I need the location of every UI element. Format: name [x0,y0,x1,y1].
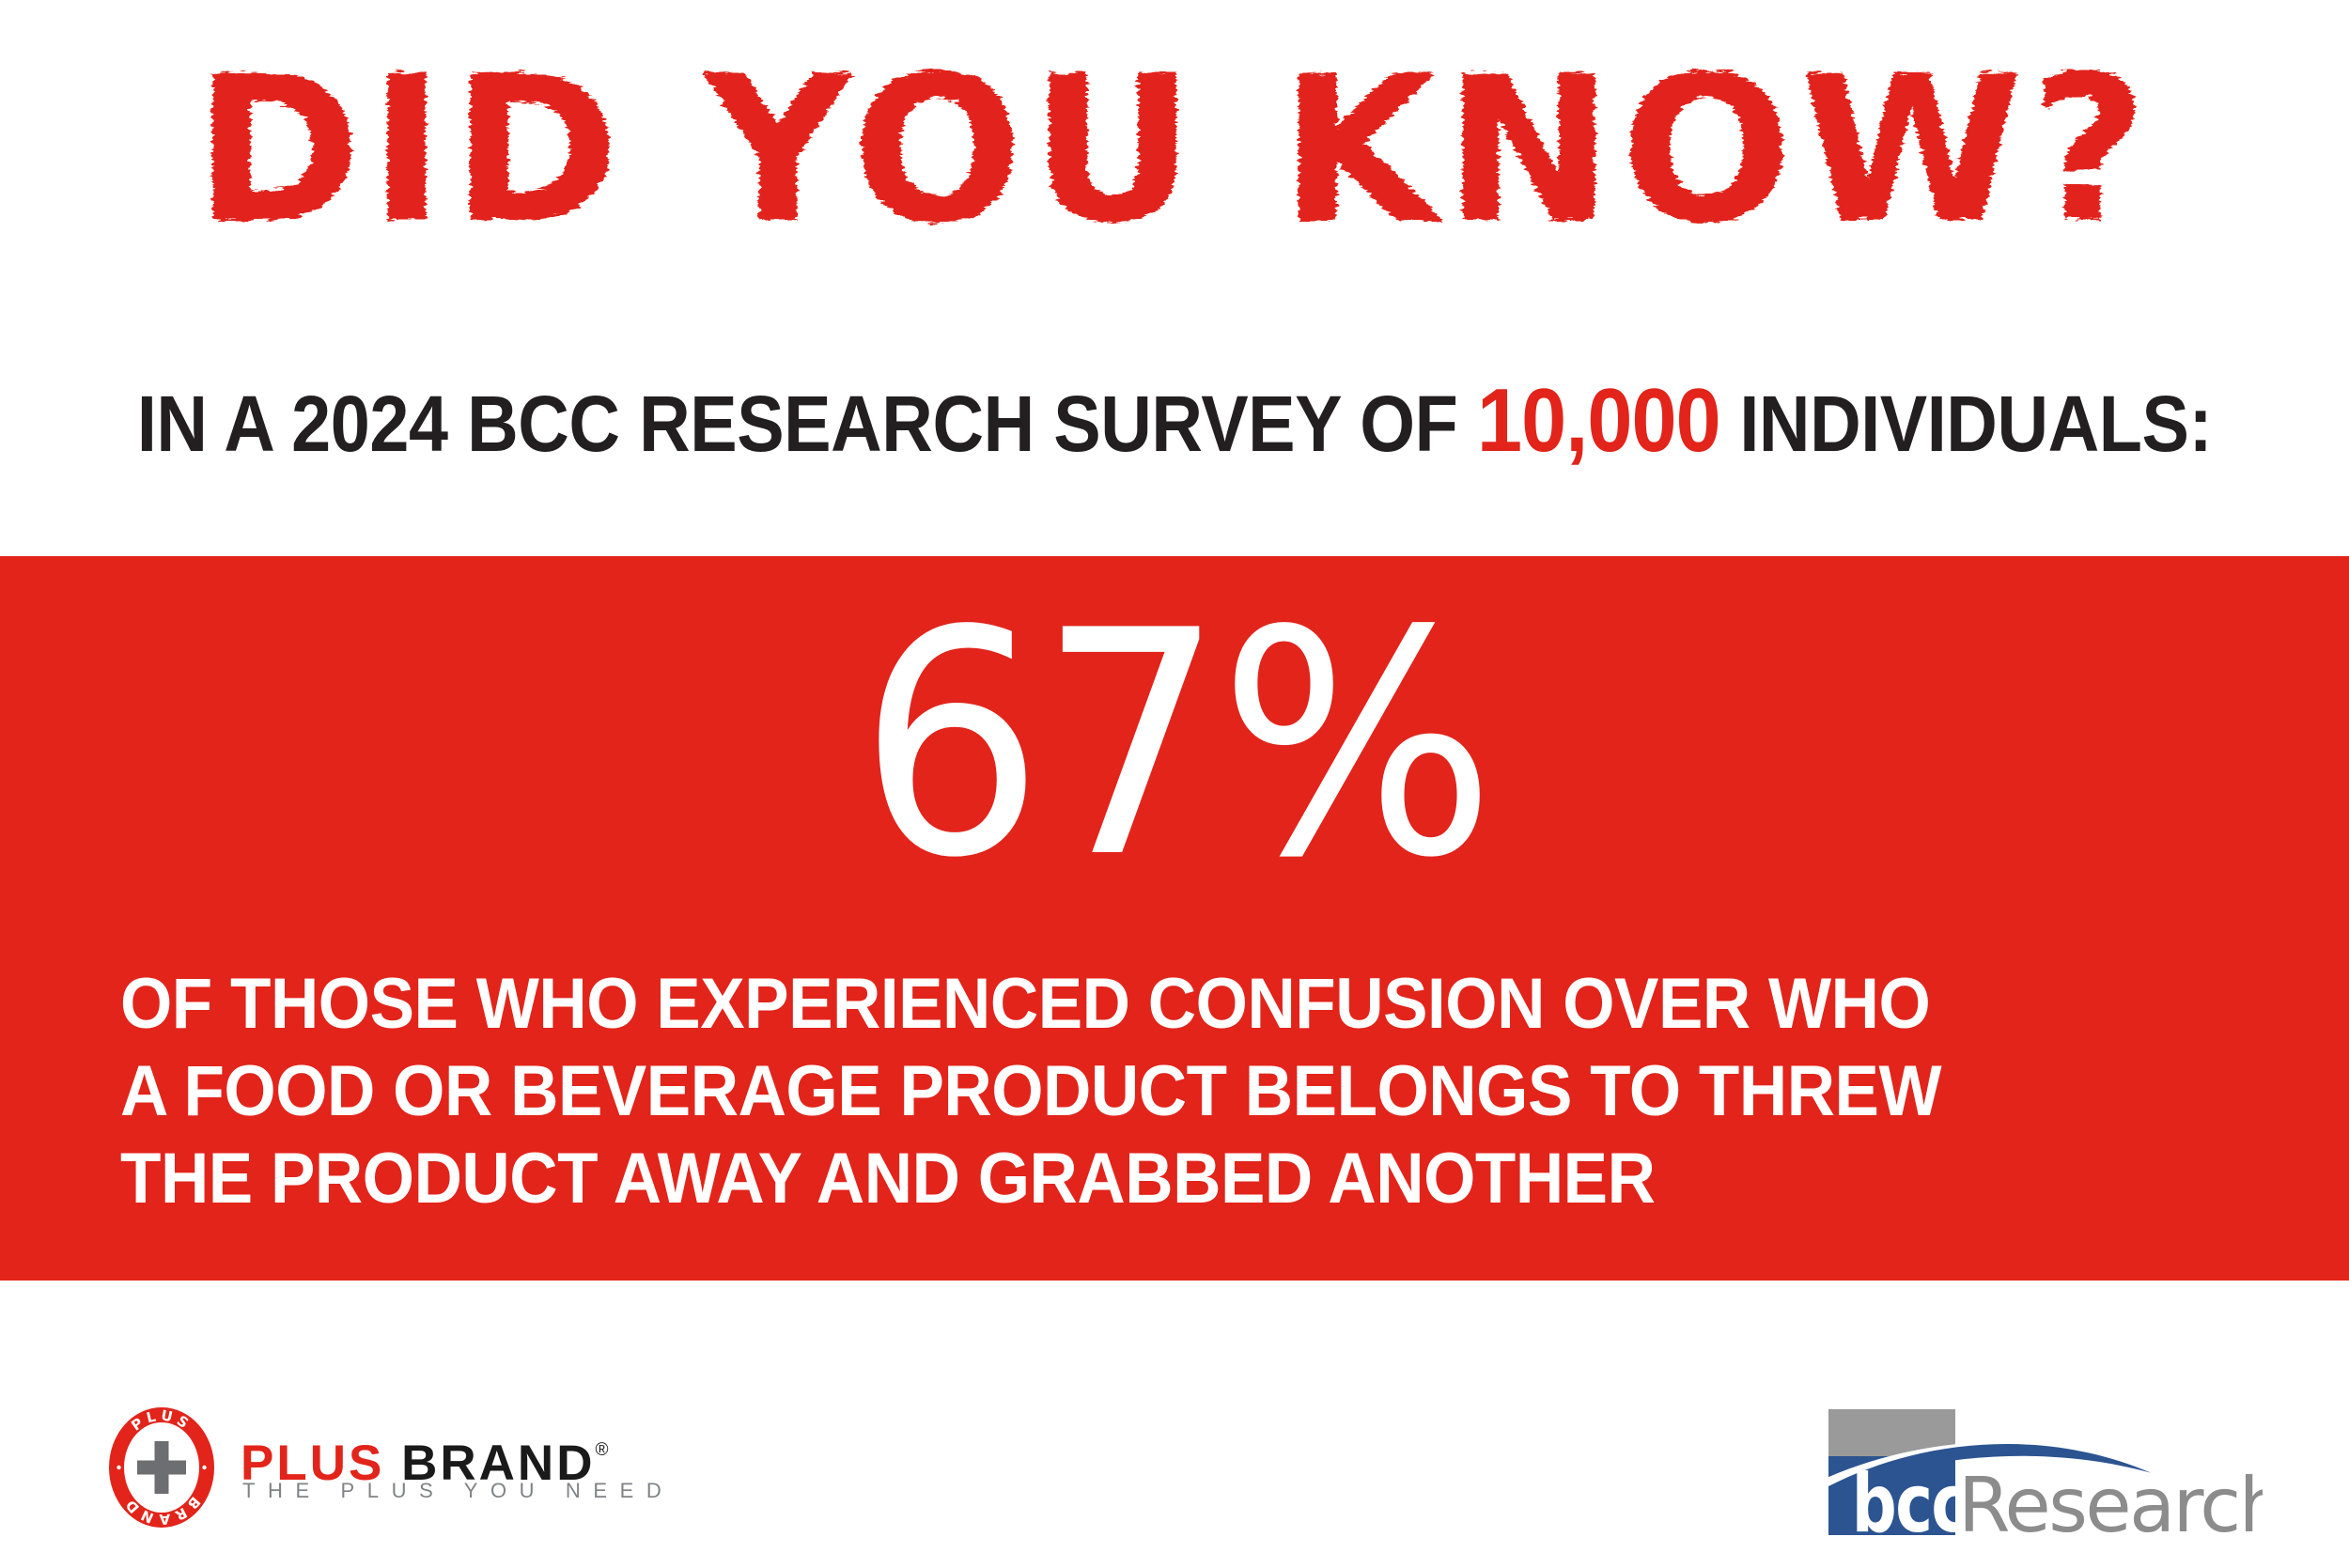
registered-trademark-icon: ® [595,1440,608,1460]
survey-subtitle: IN A 2024 BCC RESEARCH SURVEY OF 10,000 … [117,374,2232,471]
bcc-mark-text: bcc [1852,1457,1968,1541]
stat-description-line-1: OF THOSE WHO EXPERIENCED CONFUSION OVER … [120,960,2132,1048]
headline-text: DID YOU KNOW? [202,45,2147,261]
bcc-logo-graphic: bcc Research [1821,1400,2263,1541]
plus-brand-circular-mark: PLUS BRAND [101,1400,222,1531]
ring-dot-right [202,1466,206,1469]
did-you-know-headline: DID YOU KNOW? [202,45,2147,261]
stat-description-line-3: THE PRODUCT AWAY AND GRABBED ANOTHER [120,1135,2132,1222]
stat-percentage: 67% [70,590,2279,900]
subtitle-before: IN A 2024 BCC RESEARCH SURVEY OF [137,380,1458,468]
subtitle-after: INDIVIDUALS: [1739,380,2212,468]
headline-banner: DID YOU KNOW? [0,45,2349,261]
bcc-research-logo: bcc Research [1821,1400,2263,1541]
stat-description-line-2: A FOOD OR BEVERAGE PRODUCT BELONGS TO TH… [120,1048,2132,1135]
plus-brand-logo: PLUS BRAND PLUS BRAND® THE PLUS YOU NEED [101,1398,684,1537]
bcc-research-wordmark: Research [1958,1462,2263,1541]
stat-description: OF THOSE WHO EXPERIENCED CONFUSION OVER … [120,960,2272,1222]
plus-brand-tagline: THE PLUS YOU NEED [242,1479,674,1503]
subtitle-highlight-number: 10,000 [1477,370,1720,471]
plus-icon-horizontal [137,1461,186,1475]
ring-dot-left [117,1466,120,1469]
red-highlight-band: 67% OF THOSE WHO EXPERIENCED CONFUSION O… [0,556,2349,1281]
